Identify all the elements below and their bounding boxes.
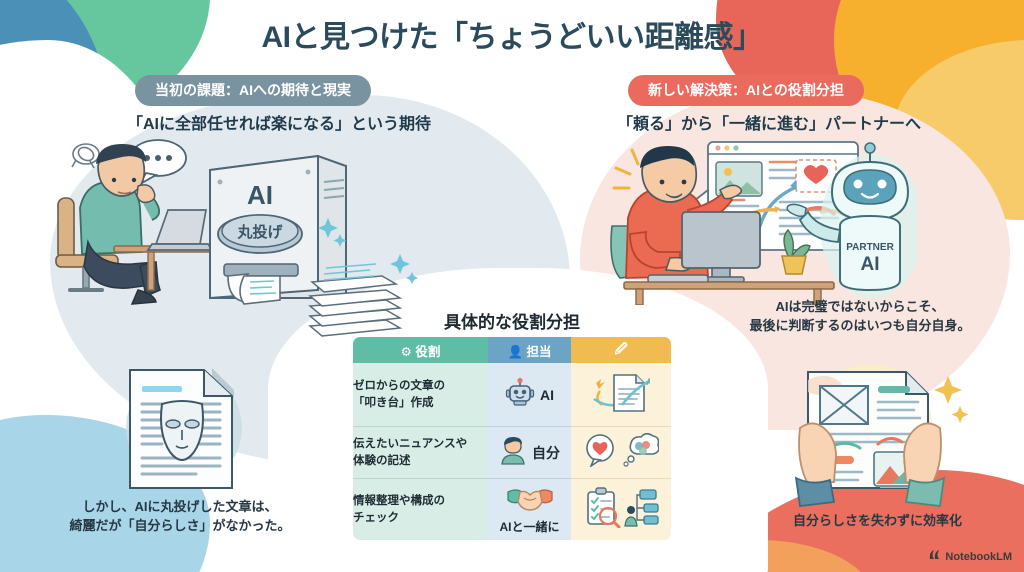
table-title: 具体的な役割分担 — [353, 308, 671, 333]
notebooklm-logo-icon — [928, 549, 941, 564]
right-section-caption-bottom: 自分らしさを失わずに効率化 — [745, 512, 1010, 531]
thought-bubble-icon — [621, 433, 659, 472]
right-hand-icon — [904, 423, 944, 506]
right-section-caption-top: AIは完璧ではないからこそ、最後に判断するのはいつも自分自身。 — [700, 298, 1020, 336]
left-section-badge: 当初の課題：AIへの期待と現実 — [135, 75, 371, 106]
row2-owner: 自分 — [488, 427, 571, 479]
printed-paper — [228, 274, 280, 304]
gear-icon: ⚙ — [401, 345, 412, 359]
page-title: AIと見つけた「ちょうどいい距離感」 — [0, 12, 1024, 56]
watermark-label: NotebookLM — [945, 551, 1012, 563]
role-division-table: ⚙ 役割 👤 担当 🖉 ゼロからの文章の「叩き台」作成 — [353, 337, 671, 540]
table-row: 情報整理や構成のチェック AIと一緒に — [353, 479, 671, 540]
document-icon: AI — [592, 369, 650, 420]
row1-owner-label: AI — [540, 387, 554, 403]
row2-detail — [571, 427, 671, 479]
machine-label-ai: AI — [247, 180, 273, 210]
illustration-hands-holding-document — [770, 360, 970, 515]
machine-button-label: 丸投げ — [236, 223, 283, 241]
row3-role: 情報整理や構成のチェック — [353, 479, 488, 540]
row3-owner: AIと一緒に — [488, 479, 571, 540]
edit-pencil-icon: 🖉 — [614, 342, 627, 356]
heart-speech-bubble-icon — [584, 433, 618, 472]
document-highlight-bar — [142, 386, 182, 392]
row3-owner-label: AIと一緒に — [499, 518, 559, 535]
tangled-thought-icon — [72, 144, 99, 168]
row1-owner: AI — [488, 363, 571, 427]
illustration-person-collaborating-with-ai-partner: PARTNER AI — [608, 130, 918, 310]
table-header-role-label: 役割 — [415, 345, 440, 359]
row2-owner-label: 自分 — [532, 443, 560, 463]
desk-surface — [624, 282, 834, 289]
table-header-row: ⚙ 役割 👤 担当 🖉 — [353, 337, 671, 363]
table-header-owner: 👤 担当 — [488, 337, 571, 363]
table-row: 伝えたいニュアンスや体験の記述 自分 — [353, 427, 671, 479]
row1-role: ゼロからの文章の「叩き台」作成 — [353, 363, 488, 427]
robot-icon — [505, 377, 535, 412]
left-caption-line1: しかし、AIに丸投げした文章は、綺麗だが「自分らしさ」がなかった。 — [69, 499, 290, 533]
right-section-badge: 新しい解決策：AIとの役割分担 — [628, 75, 864, 106]
person-icon: 👤 — [507, 345, 523, 359]
row2-role: 伝えたいニュアンスや体験の記述 — [353, 427, 488, 479]
infographic-poster: AIと見つけた「ちょうどいい距離感」 当初の課題：AIへの期待と現実 「AIに全… — [0, 0, 1024, 572]
sparkle-icon — [934, 376, 969, 423]
table-header-detail: 🖉 — [571, 337, 671, 363]
row3-detail — [571, 479, 671, 540]
flowchart-person-icon — [624, 486, 660, 533]
person-avatar-icon — [499, 435, 527, 470]
left-hand-icon — [796, 423, 836, 506]
handshake-icon — [506, 484, 554, 517]
table-header-role: ⚙ 役割 — [353, 337, 488, 363]
left-section-caption: しかし、AIに丸投げした文章は、綺麗だが「自分らしさ」がなかった。 — [20, 498, 340, 536]
notebooklm-watermark: NotebookLM — [928, 549, 1012, 564]
robot-label-line1: PARTNER — [846, 242, 894, 253]
clipboard-checklist-icon — [583, 486, 621, 533]
table-header-owner-label: 担当 — [527, 345, 552, 359]
excitement-rays-icon — [614, 150, 638, 188]
illustration-document-with-mask — [104, 358, 274, 503]
robot-label-line2: AI — [861, 254, 880, 275]
row1-detail: AI — [571, 363, 671, 427]
table-row: ゼロからの文章の「叩き台」作成 — [353, 363, 671, 427]
svg-text:AI: AI — [646, 377, 650, 387]
